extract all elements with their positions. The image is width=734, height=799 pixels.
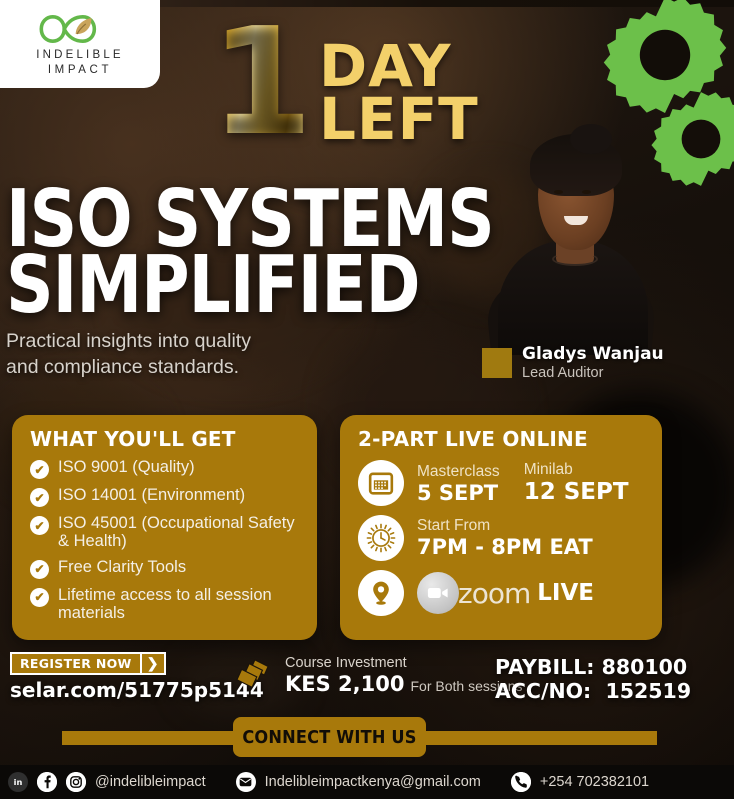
headline-line2: SIMPLIFIED — [6, 252, 494, 318]
logo-text-line1: INDELIBLE — [36, 49, 124, 62]
list-item: ✔ ISO 45001 (Occupational Safety & Healt… — [30, 514, 301, 551]
register-now-button[interactable]: REGISTER NOW ❯ — [10, 652, 166, 675]
check-icon: ✔ — [30, 560, 49, 579]
social-handle[interactable]: @indelibleimpact — [95, 774, 206, 790]
session-platform-row: zoom LIVE — [358, 570, 646, 616]
facebook-icon[interactable] — [37, 772, 57, 792]
speaker-name: Gladys Wanjau — [522, 345, 664, 364]
linkedin-icon[interactable]: in — [8, 772, 28, 792]
list-item: ✔ ISO 9001 (Quality) — [30, 458, 301, 479]
benefit-label: Lifetime access to all session materials — [58, 586, 301, 623]
benefit-label: ISO 45001 (Occupational Safety & Health) — [58, 514, 301, 551]
poster-canvas: Gladys Wanjau Lead Auditor INDELIBLE IMP… — [0, 0, 734, 799]
check-icon: ✔ — [30, 588, 49, 607]
minilab-label: Minilab — [524, 461, 629, 478]
phone-icon — [511, 772, 531, 792]
session-time-row: Start From 7PM - 8PM EAT — [358, 515, 646, 561]
benefit-label: ISO 9001 (Quality) — [58, 458, 195, 476]
instagram-icon[interactable] — [66, 772, 86, 792]
contact-email[interactable]: Indelibleimpactkenya@gmail.com — [265, 774, 481, 790]
check-icon: ✔ — [30, 516, 49, 535]
session-date-row: Masterclass 5 SEPT Minilab 12 SEPT — [358, 460, 646, 506]
check-icon: ✔ — [30, 460, 49, 479]
clock-icon — [358, 515, 404, 561]
infinity-leaf-logo-icon — [37, 11, 123, 47]
masterclass-date: 5 SEPT — [417, 481, 500, 505]
register-block[interactable]: REGISTER NOW ❯ selar.com/51775p5144 — [10, 652, 264, 702]
investment-label: Course Investment — [285, 655, 523, 672]
contact-phone[interactable]: +254 702382101 — [540, 774, 649, 790]
start-time-label: Start From — [417, 517, 593, 534]
zoom-platform: zoom LIVE — [417, 572, 594, 614]
zoom-camera-icon — [417, 572, 459, 614]
speaker-role: Lead Auditor — [522, 364, 664, 382]
brand-logo: INDELIBLE IMPACT — [0, 0, 160, 88]
benefits-card: WHAT YOU'LL GET ✔ ISO 9001 (Quality) ✔ I… — [12, 415, 317, 640]
course-investment-block: Course Investment KES 2,100 For Both ses… — [232, 655, 523, 696]
list-item: ✔ Free Clarity Tools — [30, 558, 301, 579]
connect-with-us-bar: CONNECT WITH US — [0, 727, 734, 749]
payment-details: PAYBILL: 880100 ACC/NO: 152519 — [495, 655, 691, 703]
zoom-wordmark: zoom — [458, 577, 530, 610]
live-label: LIVE — [537, 580, 594, 606]
subtitle-line2: and compliance standards. — [6, 355, 531, 381]
minilab-date: 12 SEPT — [524, 479, 629, 505]
benefit-label: ISO 14001 (Environment) — [58, 486, 245, 504]
headline-block: ISO SYSTEMS SIMPLIFIED Practical insight… — [6, 186, 531, 381]
footer-contact-bar: in @indelibleimpact Indelibleimpactkenya… — [0, 765, 734, 799]
svg-text:in: in — [14, 777, 23, 787]
location-pin-icon — [358, 570, 404, 616]
speaker-nameplate: Gladys Wanjau Lead Auditor — [482, 345, 664, 382]
countdown-number: 1 — [210, 14, 313, 150]
session-card-title: 2-PART LIVE ONLINE — [358, 427, 646, 451]
registration-url[interactable]: selar.com/51775p5144 — [10, 678, 264, 702]
chevron-right-icon: ❯ — [140, 654, 164, 673]
investment-price: KES 2,100 — [285, 672, 404, 696]
list-item: ✔ ISO 14001 (Environment) — [30, 486, 301, 507]
register-button-label: REGISTER NOW — [12, 654, 140, 673]
calendar-icon — [358, 460, 404, 506]
benefits-list: ✔ ISO 9001 (Quality) ✔ ISO 14001 (Enviro… — [30, 458, 301, 623]
benefits-card-title: WHAT YOU'LL GET — [30, 427, 301, 451]
benefit-label: Free Clarity Tools — [58, 558, 186, 576]
masterclass-label: Masterclass — [417, 463, 500, 480]
list-item: ✔ Lifetime access to all session materia… — [30, 586, 301, 623]
check-icon: ✔ — [30, 488, 49, 507]
countdown-left-label: LEFT — [319, 93, 479, 146]
connect-with-us-label: CONNECT WITH US — [233, 717, 426, 757]
nameplate-swatch — [482, 348, 512, 378]
session-card: 2-PART LIVE ONLINE — [340, 415, 662, 640]
logo-text-line2: IMPACT — [48, 64, 112, 77]
countdown-banner: 1 DAY LEFT — [210, 22, 479, 150]
envelope-icon — [236, 772, 256, 792]
tickets-icon — [232, 658, 274, 692]
start-time-value: 7PM - 8PM EAT — [417, 535, 593, 559]
subtitle-line1: Practical insights into quality — [6, 329, 531, 355]
